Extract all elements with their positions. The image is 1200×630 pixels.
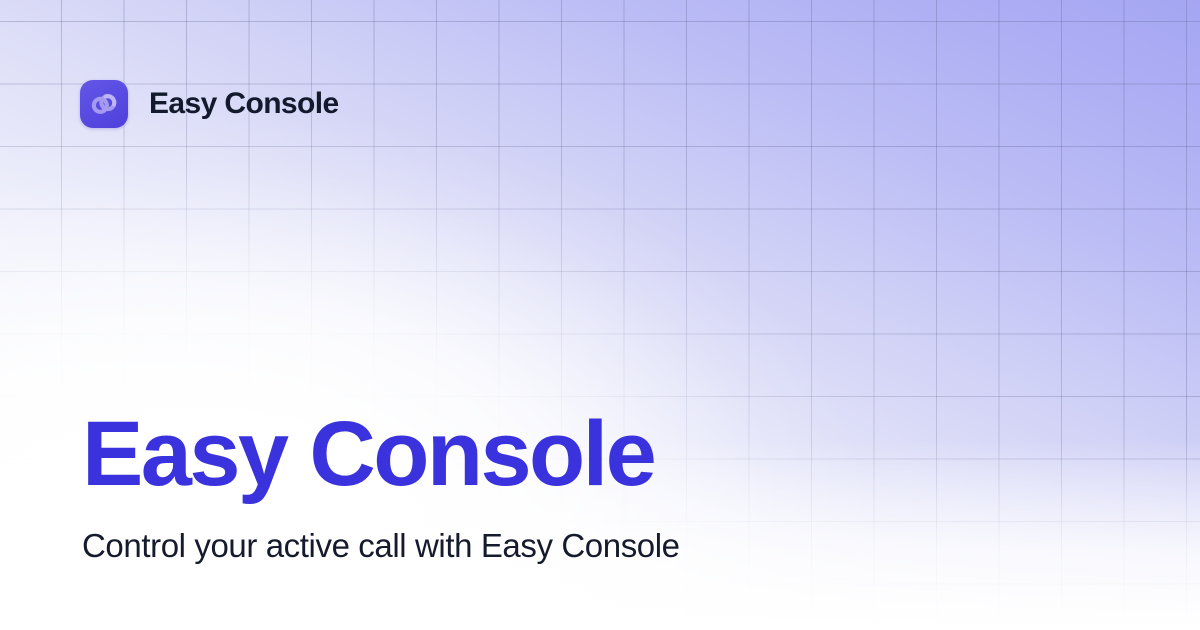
hero-section: Easy Console Control your active call wi… [82, 408, 1122, 566]
og-card: Easy Console Easy Console Control your a… [0, 0, 1200, 630]
interlocking-rings-icon [80, 80, 128, 128]
brand-lockup: Easy Console [80, 80, 339, 128]
brand-name: Easy Console [149, 87, 339, 121]
page-subtitle: Control your active call with Easy Conso… [82, 526, 1122, 566]
page-title: Easy Console [82, 408, 1122, 500]
